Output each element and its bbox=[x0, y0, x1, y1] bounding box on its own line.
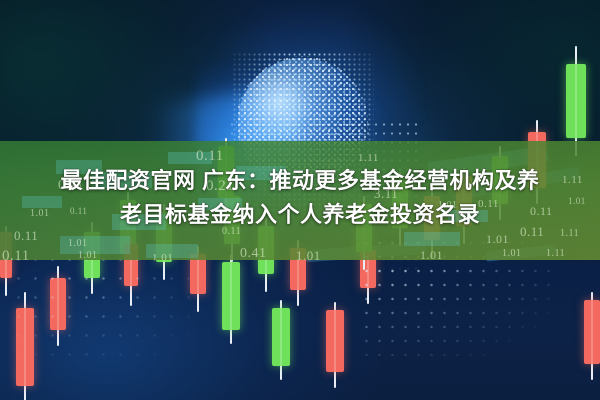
floating-number: 0.11 bbox=[2, 248, 30, 260]
floating-number: 1.01 bbox=[486, 232, 509, 247]
floating-number: 1.01 bbox=[68, 238, 88, 249]
candle-body bbox=[326, 310, 344, 372]
headline-line-1: 最佳配资官网 广东：推动更多基金经营机构及养 bbox=[0, 164, 600, 198]
hero-banner: 0.111.010.110.111.010.111.010.110.211.01… bbox=[0, 0, 600, 400]
floating-number: 1.01 bbox=[296, 248, 321, 260]
candle-body bbox=[566, 64, 586, 138]
floating-number: 0.41 bbox=[240, 246, 267, 260]
floating-number: 1.01 bbox=[78, 250, 98, 260]
band-teal-rect bbox=[404, 232, 460, 246]
floating-number: 1.01 bbox=[420, 248, 443, 260]
floating-number: 1.01 bbox=[152, 252, 173, 260]
floating-number: 1.01 bbox=[502, 248, 522, 259]
particle-dust-left bbox=[10, 250, 200, 360]
candle-body bbox=[272, 308, 290, 366]
floating-number: 0.11 bbox=[196, 148, 224, 165]
page-title: 最佳配资官网 广东：推动更多基金经营机构及养 老目标基金纳入个人养老金投资名录 bbox=[0, 164, 600, 232]
floating-number: 1.11 bbox=[358, 152, 379, 164]
candle-body bbox=[584, 300, 600, 364]
headline-line-2: 老目标基金纳入个人养老金投资名录 bbox=[0, 198, 600, 232]
floating-number: 1.11 bbox=[546, 248, 565, 259]
